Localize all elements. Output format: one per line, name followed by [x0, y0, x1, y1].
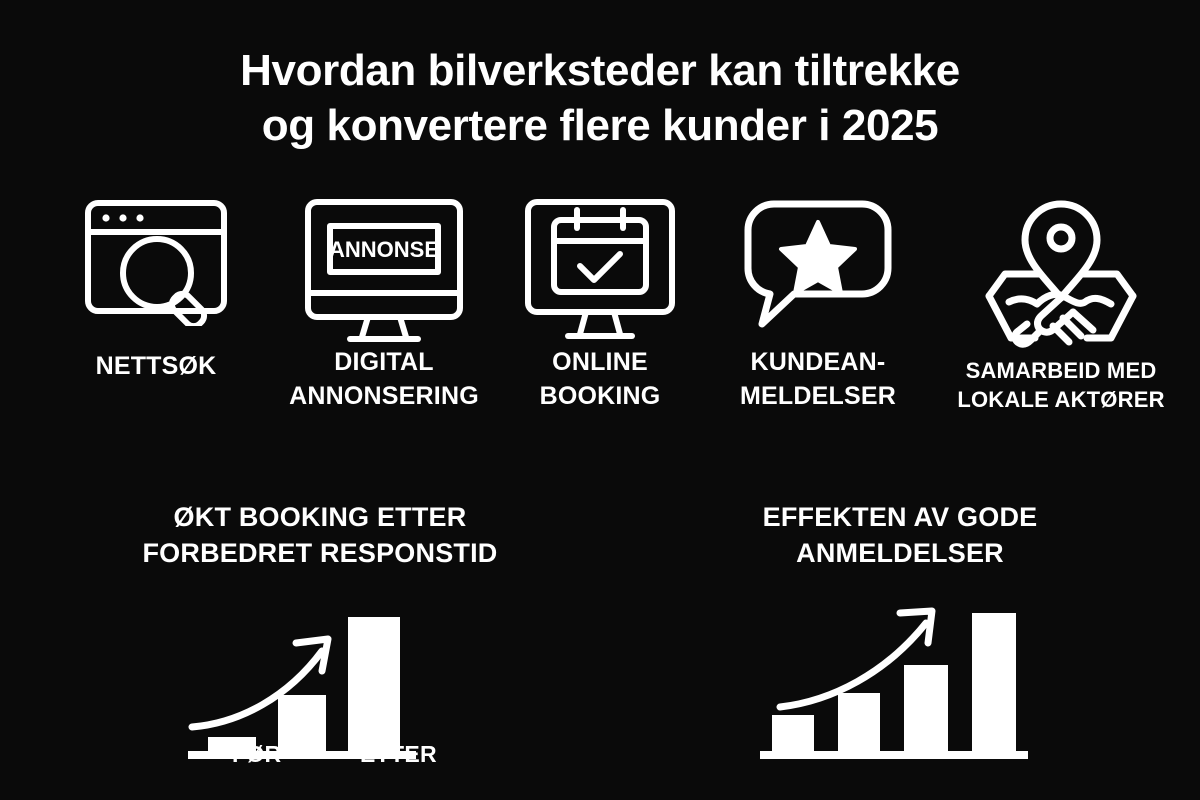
stat-block-effekten-anmeldelser: EFFEKTEN AV GODE ANMELDELSER: [640, 500, 1160, 775]
strategy-item-nettsok: NETTSØK: [36, 196, 276, 384]
strategy-label-samarbeid: SAMARBEID MED LOKALE AKTØRER: [930, 356, 1192, 415]
strategy-icon-row: NETTSØK ANNONSE DIGITAL ANNONSERING: [0, 196, 1200, 466]
browser-search-icon: [36, 196, 276, 346]
handshake-location-pin-icon: [930, 196, 1192, 356]
axis-labels: FØR ETTER: [60, 741, 580, 769]
strategy-label-digital-annonsering: DIGITAL ANNONSERING: [272, 346, 496, 413]
strategy-item-kundeanmeldelser: KUNDEAN- MELDELSER: [706, 196, 930, 413]
page-title: Hvordan bilverksteder kan tiltrekke og k…: [0, 44, 1200, 153]
title-line-1: Hvordan bilverksteder kan tiltrekke: [0, 44, 1200, 99]
stats-row: ØKT BOOKING ETTER FORBEDRET RESPONSTID: [0, 500, 1200, 800]
monitor-calendar-check-icon: [492, 196, 708, 346]
strategy-item-digital-annonsering: ANNONSE DIGITAL ANNONSERING: [272, 196, 496, 413]
strategy-item-samarbeid: SAMARBEID MED LOKALE AKTØRER: [930, 196, 1192, 415]
stat-heading-effekten-anmeldelser: EFFEKTEN AV GODE ANMELDELSER: [640, 500, 1160, 571]
infographic-poster: Hvordan bilverksteder kan tiltrekke og k…: [0, 0, 1200, 800]
bar-chart-growth-arrow-icon-right: [640, 585, 1160, 775]
axis-label-before: FØR: [232, 741, 281, 768]
strategy-label-online-booking: ONLINE BOOKING: [492, 346, 708, 413]
monitor-ad-icon: ANNONSE: [272, 196, 496, 346]
axis-label-after: ETTER: [360, 741, 437, 768]
bar-chart-growth-arrow-icon-left: FØR ETTER: [60, 585, 580, 775]
ad-banner-text: ANNONSE: [329, 237, 439, 262]
stat-heading-okt-booking: ØKT BOOKING ETTER FORBEDRET RESPONSTID: [60, 500, 580, 571]
stat-block-okt-booking: ØKT BOOKING ETTER FORBEDRET RESPONSTID: [60, 500, 580, 775]
strategy-item-online-booking: ONLINE BOOKING: [492, 196, 708, 413]
strategy-label-kundeanmeldelser: KUNDEAN- MELDELSER: [706, 346, 930, 413]
speech-bubble-star-icon: [706, 196, 930, 346]
title-line-2: og konvertere flere kunder i 2025: [0, 99, 1200, 154]
strategy-label-nettsok: NETTSØK: [36, 346, 276, 384]
